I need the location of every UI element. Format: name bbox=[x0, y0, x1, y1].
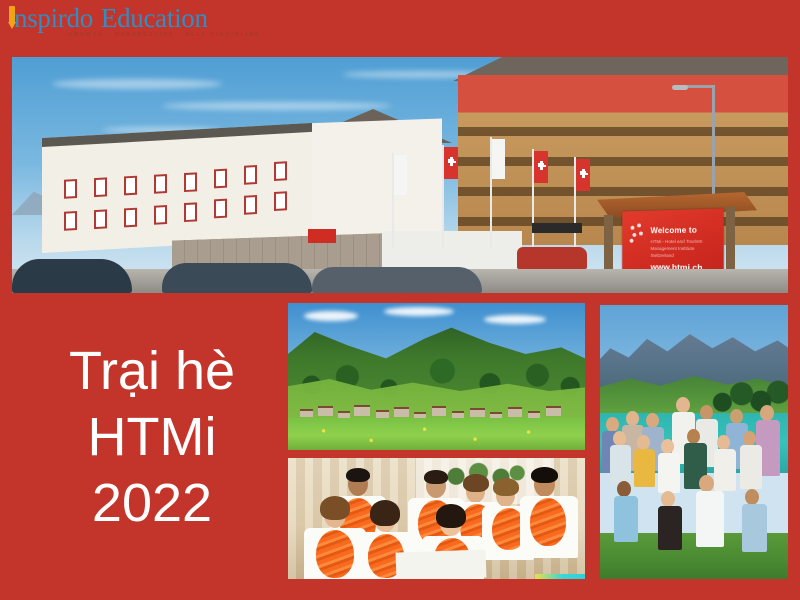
person-hair bbox=[463, 474, 489, 492]
logo-wordmark: nspirdoEducation bbox=[8, 4, 208, 34]
htmi-emblem-icon bbox=[627, 221, 646, 245]
welcome-subtitle-line2: Management Institute Switzerland bbox=[650, 246, 694, 258]
photo-student-group-lake bbox=[600, 305, 788, 579]
photo-students-gala-night bbox=[288, 458, 585, 579]
flag-white bbox=[492, 139, 505, 179]
swiss-flag bbox=[576, 159, 590, 191]
middle-house bbox=[302, 119, 442, 244]
person-hair bbox=[346, 468, 370, 482]
welcome-subtitle-line1: HTMi - Hotel and Tourism bbox=[650, 239, 702, 244]
slide-canvas: nspirdoEducation Growth · Perspective · … bbox=[0, 0, 800, 600]
photo-alpine-village bbox=[288, 303, 585, 450]
photo-htmi-campus-building: Welcome to HTMi - Hotel and Tourism Mana… bbox=[12, 57, 788, 293]
person-hair bbox=[493, 478, 519, 496]
red-van bbox=[517, 247, 587, 269]
logo-word-inspirdo: nspirdo bbox=[14, 4, 93, 33]
parked-car bbox=[312, 267, 482, 293]
orange-lei bbox=[316, 530, 354, 578]
parked-car bbox=[162, 263, 312, 293]
person-hair bbox=[320, 496, 350, 520]
welcome-banner-title: Welcome to bbox=[650, 226, 697, 236]
small-red-sign bbox=[308, 229, 336, 243]
person-hair bbox=[531, 467, 558, 483]
held-placard bbox=[396, 549, 487, 579]
headline-line-1: Trại hè bbox=[36, 338, 268, 404]
welcome-banner-subtitle: HTMi - Hotel and Tourism Management Inst… bbox=[650, 238, 717, 260]
swiss-flag bbox=[534, 151, 548, 183]
inspirdo-education-logo[interactable]: nspirdoEducation Growth · Perspective · … bbox=[8, 4, 208, 48]
flag-white bbox=[394, 155, 407, 195]
main-white-building bbox=[42, 123, 312, 253]
person-hair bbox=[370, 500, 400, 526]
person-hair bbox=[424, 470, 448, 484]
logo-word-education: Education bbox=[101, 4, 208, 33]
slide-headline: Trại hè HTMi 2022 bbox=[36, 338, 268, 536]
street-lamp-head bbox=[672, 85, 688, 90]
parked-car bbox=[12, 259, 132, 293]
headline-line-2: HTMi bbox=[36, 404, 268, 470]
foreground-meadow bbox=[288, 418, 585, 450]
image-edge-artifact bbox=[535, 574, 585, 579]
exclamation-mark-icon bbox=[8, 6, 16, 32]
headline-line-3: 2022 bbox=[36, 470, 268, 536]
dark-signboard bbox=[532, 223, 582, 233]
pine-trees bbox=[708, 363, 788, 419]
person-hair bbox=[436, 504, 466, 528]
swiss-flag bbox=[444, 147, 458, 179]
orange-lei bbox=[530, 498, 566, 546]
